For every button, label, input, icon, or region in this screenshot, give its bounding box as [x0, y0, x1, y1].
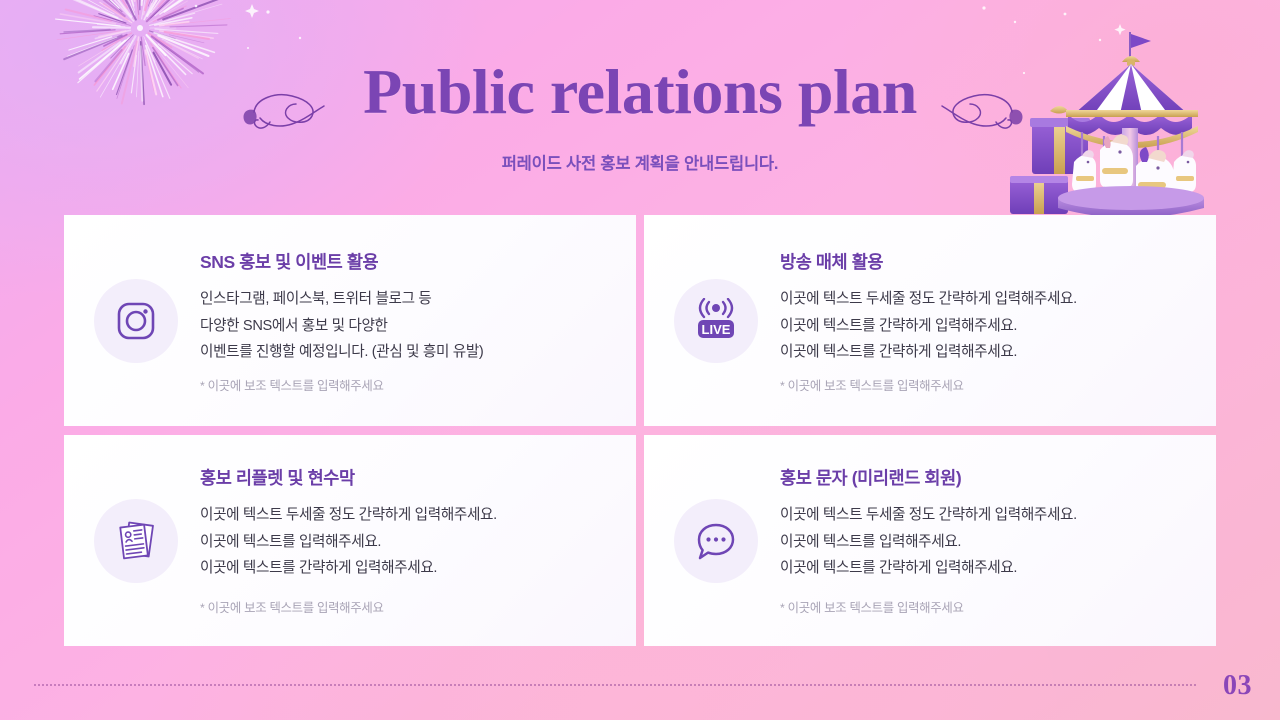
card-text-line: 이곳에 텍스트를 입력해주세요.	[780, 529, 1190, 556]
footer-divider	[34, 684, 1196, 686]
card-promotional-sms[interactable]: 홍보 문자 (미리랜드 회원) 이곳에 텍스트 두세줄 정도 간략하게 입력해주…	[644, 435, 1216, 646]
card-sns-promotion[interactable]: SNS 홍보 및 이벤트 활용 인스타그램, 페이스북, 트위터 블로그 등 다…	[64, 215, 636, 426]
card-text-line: 이곳에 텍스트를 간략하게 입력해주세요.	[780, 313, 1190, 340]
icon-badge	[94, 499, 178, 583]
page-title: Public relations plan	[0, 60, 1280, 124]
card-text-line: 이곳에 텍스트를 간략하게 입력해주세요.	[200, 555, 610, 582]
card-text-line: 이곳에 텍스트 두세줄 정도 간략하게 입력해주세요.	[780, 502, 1190, 529]
page-subtitle: 퍼레이드 사전 홍보 계획을 안내드립니다.	[0, 150, 1280, 174]
card-text-line: 인스타그램, 페이스북, 트위터 블로그 등	[200, 286, 610, 313]
speech-bubble-icon	[693, 519, 739, 563]
card-note: * 이곳에 보조 텍스트를 입력해주세요	[780, 376, 1190, 394]
card-text-line: 다양한 SNS에서 홍보 및 다양한	[200, 313, 610, 340]
icon-badge	[674, 499, 758, 583]
slide-footer: 03	[0, 660, 1280, 720]
instagram-icon	[114, 299, 158, 343]
live-broadcast-icon: LIVE	[691, 298, 741, 344]
card-body: 홍보 리플렛 및 현수막 이곳에 텍스트 두세줄 정도 간략하게 입력해주세요.…	[200, 465, 610, 617]
card-title: 홍보 리플렛 및 현수막	[200, 465, 610, 490]
live-label: LIVE	[702, 322, 731, 337]
card-title: 방송 매체 활용	[780, 249, 1190, 274]
card-text-line: 이곳에 텍스트 두세줄 정도 간략하게 입력해주세요.	[200, 502, 610, 529]
card-note: * 이곳에 보조 텍스트를 입력해주세요	[780, 598, 1190, 616]
card-note: * 이곳에 보조 텍스트를 입력해주세요	[200, 376, 610, 394]
card-text-line: 이곳에 텍스트를 입력해주세요.	[200, 529, 610, 556]
page-number: 03	[1223, 670, 1252, 702]
card-text-line: 이곳에 텍스트를 간략하게 입력해주세요.	[780, 555, 1190, 582]
icon-badge	[94, 279, 178, 363]
card-text-line: 이벤트를 진행할 예정입니다. (관심 및 흥미 유발)	[200, 339, 610, 366]
card-body: 홍보 문자 (미리랜드 회원) 이곳에 텍스트 두세줄 정도 간략하게 입력해주…	[780, 465, 1190, 617]
content-card-grid: SNS 홍보 및 이벤트 활용 인스타그램, 페이스북, 트위터 블로그 등 다…	[64, 215, 1216, 646]
card-title: 홍보 문자 (미리랜드 회원)	[780, 465, 1190, 490]
card-title: SNS 홍보 및 이벤트 활용	[200, 249, 610, 274]
card-body: SNS 홍보 및 이벤트 활용 인스타그램, 페이스북, 트위터 블로그 등 다…	[200, 247, 610, 395]
card-leaflet-banner[interactable]: 홍보 리플렛 및 현수막 이곳에 텍스트 두세줄 정도 간략하게 입력해주세요.…	[64, 435, 636, 646]
card-broadcast-media[interactable]: LIVE 방송 매체 활용 이곳에 텍스트 두세줄 정도 간략하게 입력해주세요…	[644, 215, 1216, 426]
card-body: 방송 매체 활용 이곳에 텍스트 두세줄 정도 간략하게 입력해주세요. 이곳에…	[780, 247, 1190, 395]
icon-badge: LIVE	[674, 279, 758, 363]
card-text-line: 이곳에 텍스트 두세줄 정도 간략하게 입력해주세요.	[780, 286, 1190, 313]
leaflet-documents-icon	[113, 518, 159, 564]
slide-header: Public relations plan 퍼레이드 사전 홍보 계획을 안내드…	[0, 0, 1280, 174]
card-text-line: 이곳에 텍스트를 간략하게 입력해주세요.	[780, 339, 1190, 366]
card-note: * 이곳에 보조 텍스트를 입력해주세요	[200, 598, 610, 616]
